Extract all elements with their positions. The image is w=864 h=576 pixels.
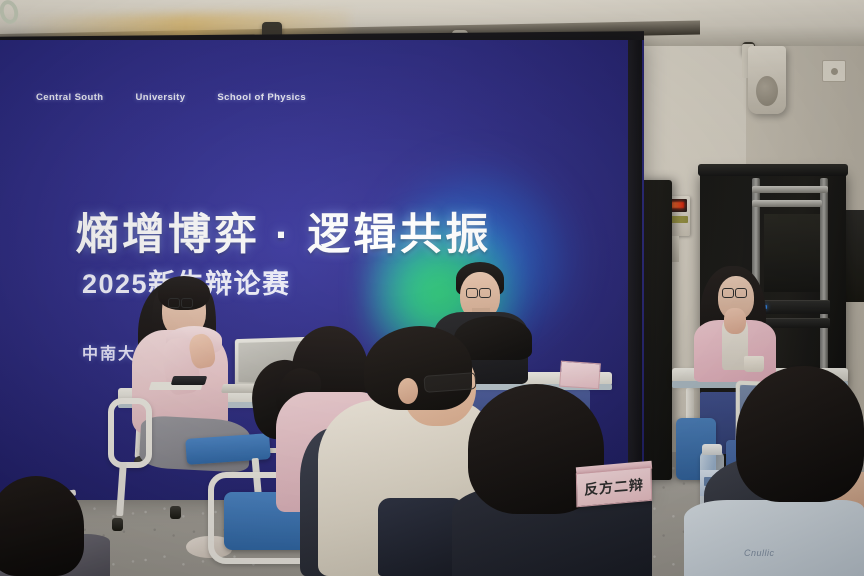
- wall-sensor-box: [822, 60, 846, 82]
- screen-frame-right: [628, 40, 642, 500]
- photo-scene: Central South University School of Physi…: [0, 0, 864, 576]
- rack-interior: [764, 214, 820, 292]
- person-f4-jacket: [684, 500, 864, 576]
- chair-foot: [170, 506, 181, 519]
- glasses-icon: [722, 292, 750, 293]
- header-item-school: School of Physics: [217, 92, 306, 103]
- chair-foot: [112, 518, 123, 531]
- screen-title: 熵增博弈 · 逻辑共振: [76, 200, 491, 262]
- glasses-icon: [423, 372, 476, 393]
- rack-rail: [752, 200, 822, 207]
- bottle-cap: [702, 444, 722, 455]
- phone: [171, 376, 208, 385]
- person-f2-ear: [398, 378, 418, 404]
- rack-top-cap: [698, 164, 848, 176]
- chair-backrest[interactable]: [108, 398, 152, 468]
- header-item-central-south: Central South: [36, 92, 103, 103]
- jacket-logo: Cnullic: [744, 548, 775, 558]
- far-placard: [559, 361, 601, 390]
- paper-cup: [744, 356, 764, 372]
- person-f2-hair: [364, 326, 472, 410]
- glasses-icon: [168, 302, 198, 303]
- header-item-university: University: [135, 92, 185, 103]
- wall-speaker: [748, 46, 786, 114]
- person-right-clapping-hands: [724, 308, 746, 334]
- placard-opposition-second: 反方二辩: [576, 467, 652, 508]
- rack-unit: [756, 300, 830, 314]
- glasses-icon: [466, 292, 496, 293]
- screen-header: Central South University School of Physi…: [36, 92, 306, 103]
- person-f4-hair: [736, 366, 864, 502]
- rack-rail: [752, 186, 828, 193]
